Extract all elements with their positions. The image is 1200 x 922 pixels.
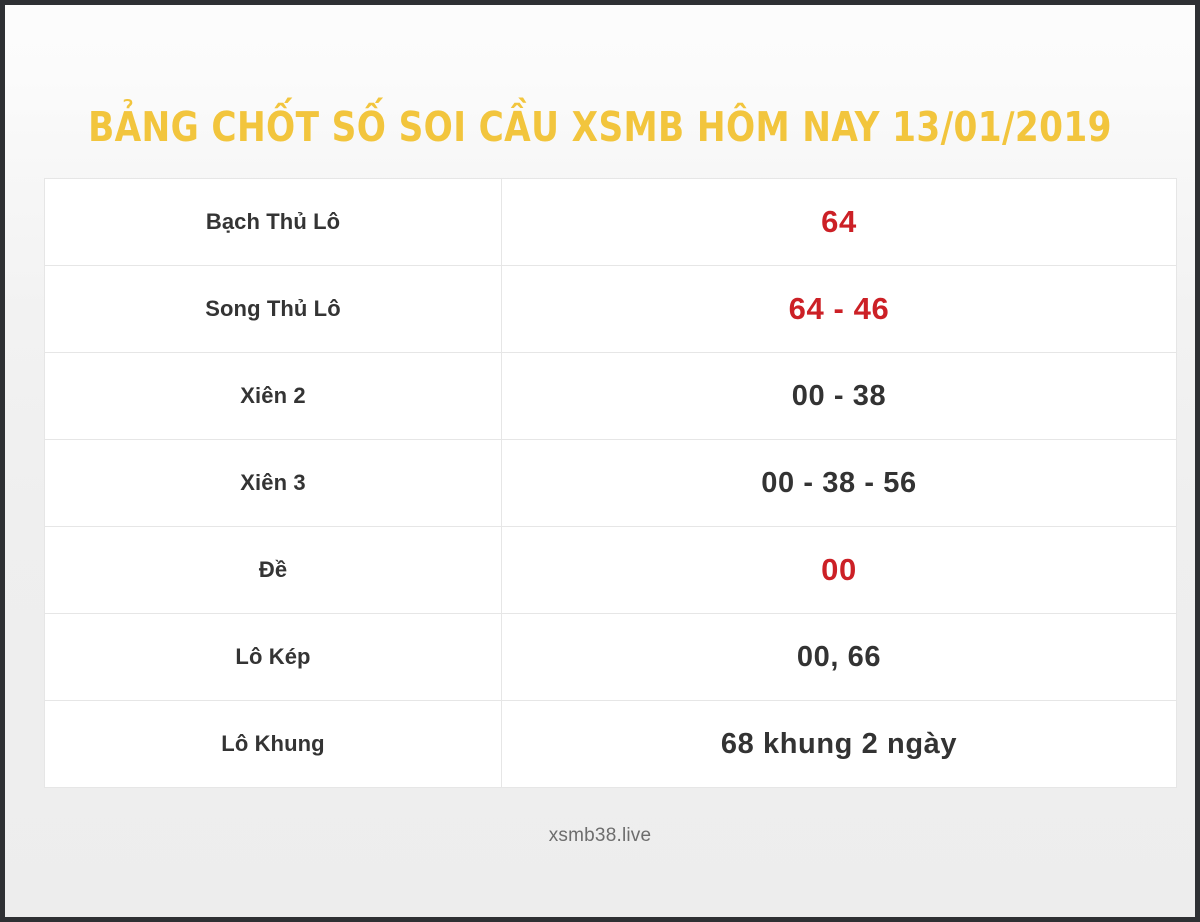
chot-so-table: Bạch Thủ Lô 64 Song Thủ Lô 64 - 46 Xiên … — [44, 178, 1177, 788]
row-value-song-thu-lo: 64 - 46 — [502, 266, 1177, 353]
row-label-song-thu-lo: Song Thủ Lô — [45, 266, 502, 353]
row-value-lo-khung: 68 khung 2 ngày — [502, 701, 1177, 788]
table-row: Xiên 3 00 - 38 - 56 — [45, 440, 1177, 527]
row-value-lo-kep: 00, 66 — [502, 614, 1177, 701]
row-label-de: Đề — [45, 527, 502, 614]
row-value-bach-thu-lo: 64 — [502, 179, 1177, 266]
table-row: Song Thủ Lô 64 - 46 — [45, 266, 1177, 353]
table-row: Lô Kép 00, 66 — [45, 614, 1177, 701]
row-value-de: 00 — [502, 527, 1177, 614]
row-label-xien-2: Xiên 2 — [45, 353, 502, 440]
table-row: Đề 00 — [45, 527, 1177, 614]
row-label-lo-kep: Lô Kép — [45, 614, 502, 701]
row-label-lo-khung: Lô Khung — [45, 701, 502, 788]
table-row: Bạch Thủ Lô 64 — [45, 179, 1177, 266]
row-label-xien-3: Xiên 3 — [45, 440, 502, 527]
row-value-xien-3: 00 - 38 - 56 — [502, 440, 1177, 527]
page-canvas: BẢNG CHỐT SỐ SOI CẦU XSMB HÔM NAY 13/01/… — [5, 5, 1195, 917]
page-frame: BẢNG CHỐT SỐ SOI CẦU XSMB HÔM NAY 13/01/… — [0, 0, 1200, 922]
table-row: Lô Khung 68 khung 2 ngày — [45, 701, 1177, 788]
site-watermark: xsmb38.live — [5, 825, 1195, 847]
page-title: BẢNG CHỐT SỐ SOI CẦU XSMB HÔM NAY 13/01/… — [47, 103, 1154, 151]
table-row: Xiên 2 00 - 38 — [45, 353, 1177, 440]
chot-so-table-body: Bạch Thủ Lô 64 Song Thủ Lô 64 - 46 Xiên … — [45, 179, 1177, 788]
row-value-xien-2: 00 - 38 — [502, 353, 1177, 440]
row-label-bach-thu-lo: Bạch Thủ Lô — [45, 179, 502, 266]
